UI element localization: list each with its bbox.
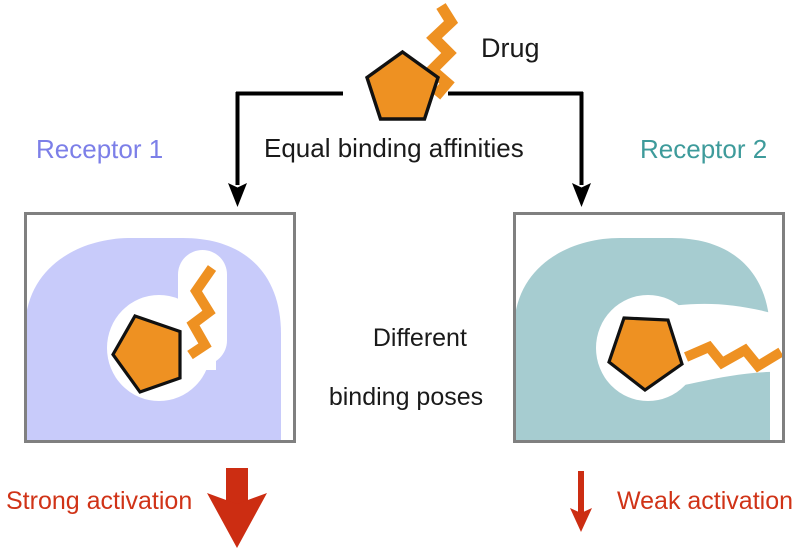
drug-head-pentagon-icon bbox=[367, 52, 438, 119]
receptor-2-label: Receptor 2 bbox=[640, 134, 767, 165]
down-arrow-icon bbox=[228, 183, 247, 207]
weak-activation-label: Weak activation bbox=[617, 487, 793, 517]
different-binding-poses-label: Different binding poses bbox=[306, 294, 506, 471]
receptor-1-panel bbox=[25, 214, 295, 443]
different-binding-poses-line-2: binding poses bbox=[306, 383, 506, 413]
receptor-1-label: Receptor 1 bbox=[36, 134, 163, 165]
drug-label: Drug bbox=[481, 33, 540, 65]
receptor-2-panel bbox=[514, 214, 790, 443]
different-binding-poses-line-1: Different bbox=[373, 324, 467, 352]
down-arrow-icon bbox=[572, 183, 591, 207]
drug-receptor-diagram: Drug Equal binding affinities Receptor 1… bbox=[0, 0, 800, 554]
equal-binding-affinities-label: Equal binding affinities bbox=[264, 133, 524, 164]
drug-molecule-top bbox=[367, 6, 451, 119]
thin-down-arrow-icon bbox=[578, 471, 584, 517]
weak-activation-arrow bbox=[570, 471, 592, 532]
strong-activation-arrow bbox=[207, 468, 267, 548]
strong-activation-label: Strong activation bbox=[6, 487, 192, 517]
